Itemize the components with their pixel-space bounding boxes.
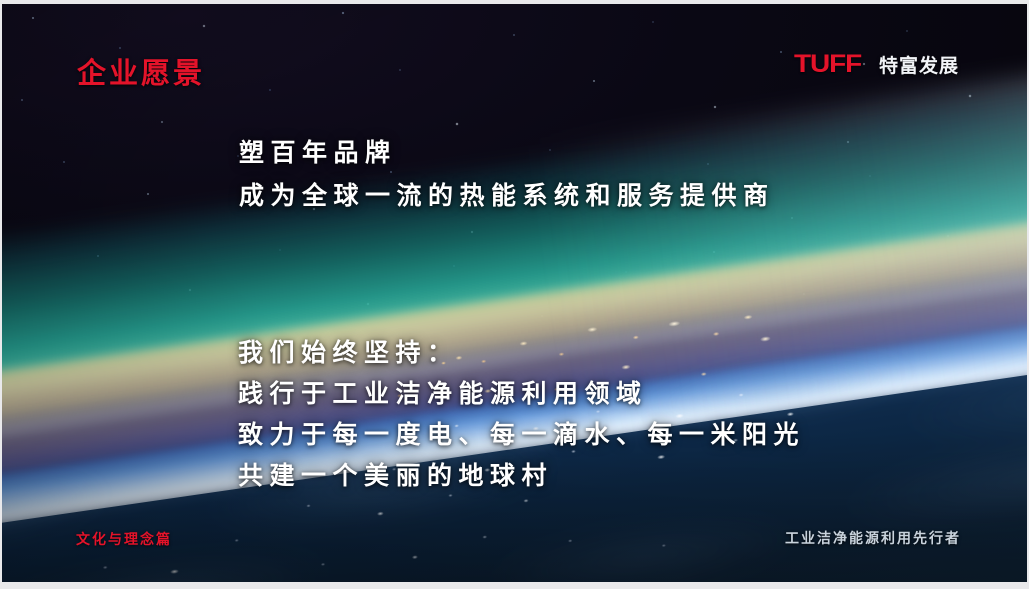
- mission-line: 我们始终坚持：: [238, 333, 805, 374]
- mission-statement-block: 我们始终坚持： 践行于工业洁净能源利用领域 致力于每一度电、每一滴水、每一米阳光…: [238, 333, 805, 497]
- slide-frame: 企业愿景 TUFF 特富发展 塑百年品牌 成为全球一流的热能系统和服务提供商 我…: [0, 0, 1029, 589]
- brand-logo: TUFF 特富发展: [794, 51, 959, 78]
- mission-line: 致力于每一度电、每一滴水、每一米阳光: [238, 415, 805, 456]
- footer-section-label: 文化与理念篇: [76, 529, 172, 549]
- tuff-logo-mark: TUFF: [794, 52, 861, 77]
- page-title: 企业愿景: [77, 50, 205, 92]
- mission-line: 践行于工业洁净能源利用领域: [238, 374, 805, 415]
- slide-canvas: 企业愿景 TUFF 特富发展 塑百年品牌 成为全球一流的热能系统和服务提供商 我…: [2, 4, 1027, 582]
- brand-name-label: 特富发展: [879, 51, 959, 78]
- mission-line: 共建一个美丽的地球村: [238, 456, 805, 497]
- slide-content: 企业愿景 TUFF 特富发展 塑百年品牌 成为全球一流的热能系统和服务提供商 我…: [2, 4, 1027, 582]
- vision-line: 成为全球一流的热能系统和服务提供商: [239, 175, 775, 218]
- vision-line: 塑百年品牌: [239, 132, 775, 175]
- vision-statement-block: 塑百年品牌 成为全球一流的热能系统和服务提供商: [239, 132, 775, 218]
- footer-tagline: 工业洁净能源利用先行者: [785, 528, 961, 548]
